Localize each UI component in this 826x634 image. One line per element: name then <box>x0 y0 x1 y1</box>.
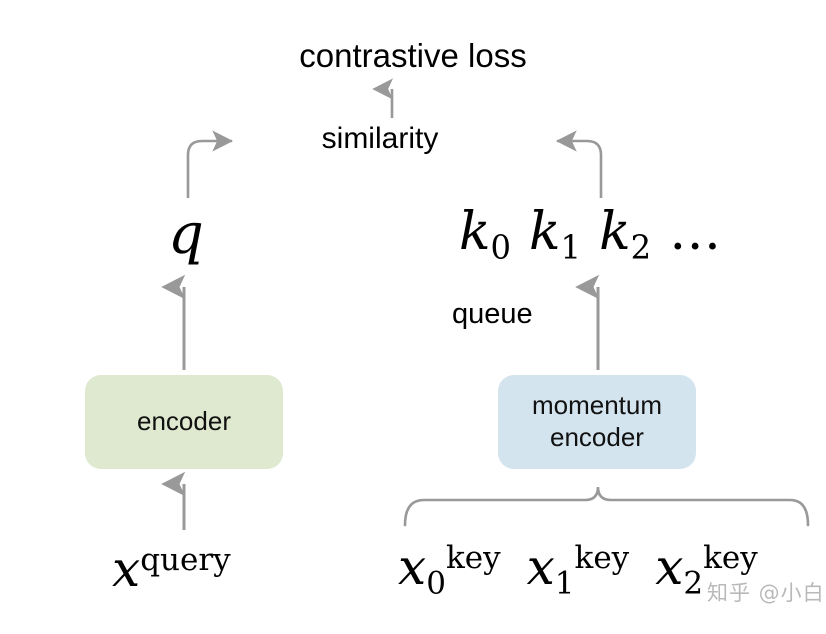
queue-label: queue <box>452 298 533 330</box>
encoder-box[interactable]: encoder <box>85 375 283 469</box>
similarity-label: similarity <box>0 122 760 156</box>
brace-key-inputs <box>405 487 808 525</box>
moco-architecture-diagram: contrastive loss similarity queue q k0k1… <box>0 0 826 634</box>
momentum-encoder-line2: encoder <box>550 422 644 452</box>
key-embedding-0: k0 <box>459 202 511 262</box>
q-base: q <box>168 202 204 267</box>
momentum-encoder-box-label: momentumencoder <box>532 390 662 453</box>
key-embedding-1: k1 <box>529 202 581 262</box>
contrastive-loss-label: contrastive loss <box>0 38 826 75</box>
key-embedding-2: k2 <box>599 202 651 262</box>
momentum-encoder-line1: momentum <box>532 390 662 420</box>
momentum-encoder-box[interactable]: momentumencoder <box>498 375 696 469</box>
x-query-input-symbol: xquery <box>112 540 231 598</box>
key-inputs-row: x0keyx1keyx2key <box>398 538 758 596</box>
key-embeddings-row: k0k1k2… <box>459 202 724 262</box>
encoder-box-label: encoder <box>137 406 231 438</box>
watermark: 知乎 @小白 <box>707 577 825 607</box>
query-embedding-symbol: q <box>168 202 204 267</box>
key-input-0: x0key <box>398 538 501 596</box>
key-embeddings-ellipsis: … <box>669 202 724 262</box>
key-input-1: x1key <box>527 538 630 596</box>
